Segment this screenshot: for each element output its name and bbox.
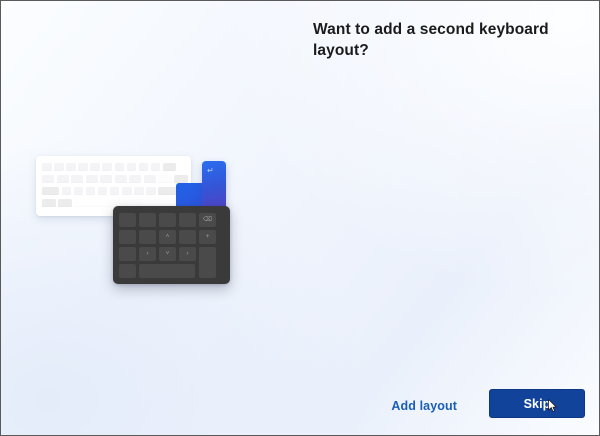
chevron-right-icon: › [179,247,196,261]
page-title: Want to add a second keyboard layout? [313,19,571,62]
numpad-key [179,230,196,244]
numpad-key [119,247,136,261]
numpad-key [119,213,136,227]
numpad-backspace-key: ⌫ [199,213,216,227]
chevron-down-icon: ˅ [159,247,176,261]
chevron-up-icon: ˄ [159,230,176,244]
numpad-zero-key [139,264,195,278]
numpad-key [119,264,136,278]
oobe-window: Want to add a second keyboard layout? [0,0,600,436]
chevron-left-icon: ‹ [139,247,156,261]
dark-numpad: ⌫ ˄ + ‹ [113,206,230,284]
numpad-key [139,213,156,227]
numpad-up-key: ˄ [159,230,176,244]
numpad-enter-key [199,247,216,278]
numpad-key [119,230,136,244]
numpad-left-key: ‹ [139,247,156,261]
backspace-icon: ⌫ [199,213,216,227]
numpad-key [159,213,176,227]
skip-button[interactable]: Skip [489,389,585,418]
numpad-key [139,230,156,244]
numpad-key [179,213,196,227]
numpad-right-key: › [179,247,196,261]
enter-arrow-icon: ↵ [207,167,214,175]
plus-icon: + [199,230,216,244]
keyboard-layout-illustration: ↵ ⌫ ˄ + [31,151,241,291]
footer-bar: Add layout Skip [1,387,599,435]
add-layout-link[interactable]: Add layout [391,399,457,413]
numpad-down-key: ˅ [159,247,176,261]
numpad-plus-key: + [199,230,216,244]
